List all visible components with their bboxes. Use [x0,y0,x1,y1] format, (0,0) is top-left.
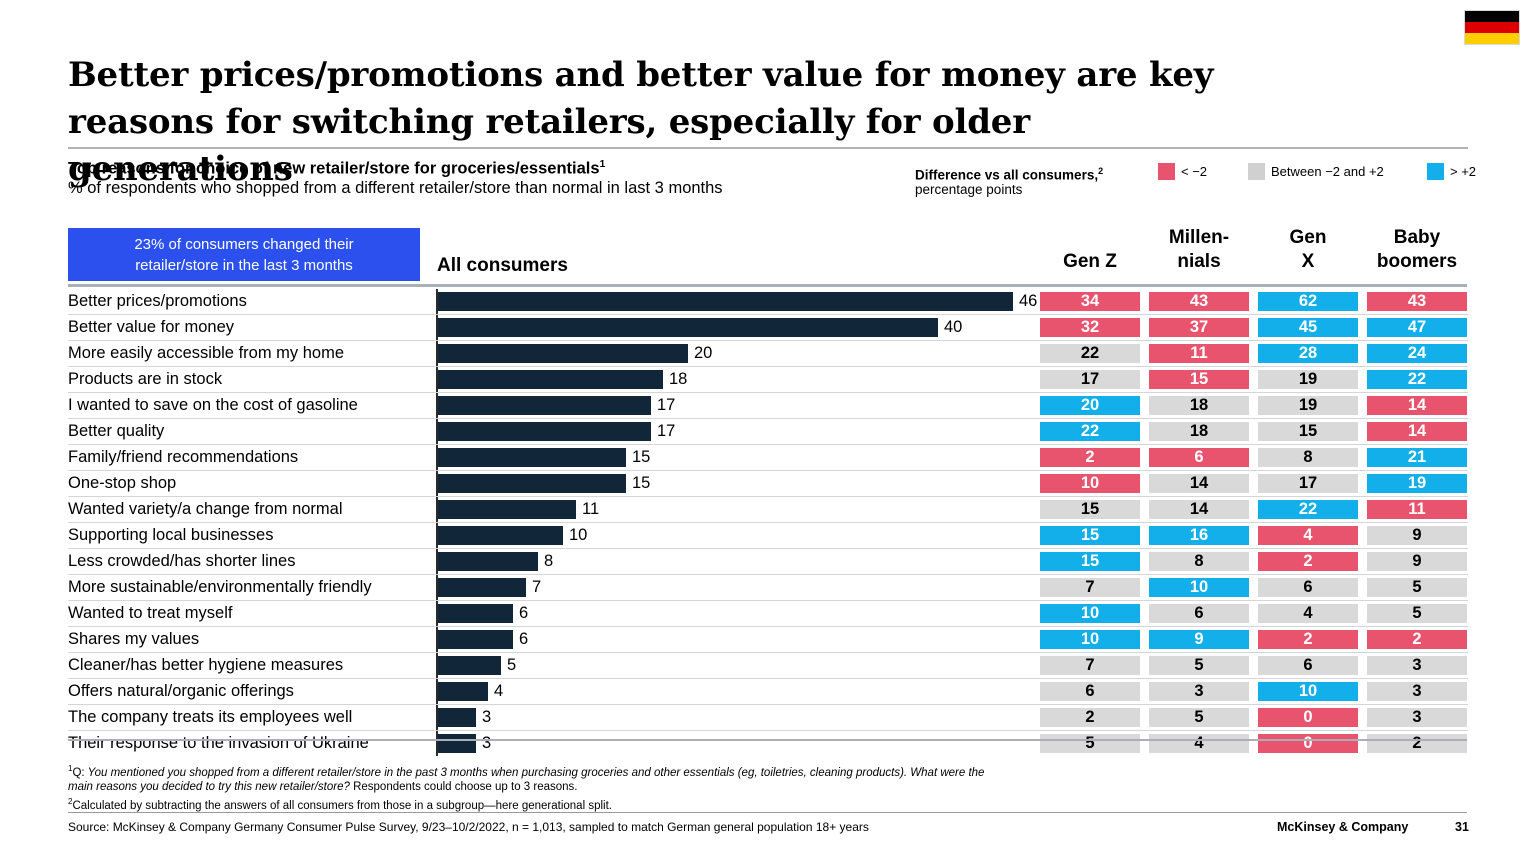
difference-cell: 2 [1367,734,1467,753]
bar-value-label: 10 [569,523,587,548]
difference-cell: 10 [1258,682,1358,701]
difference-cell: 14 [1149,474,1249,493]
difference-cell: 14 [1367,396,1467,415]
footnote-1: 1Q: You mentioned you shopped from a dif… [68,762,998,795]
bar-value-label: 40 [944,315,962,340]
callout-line-1: 23% of consumers changed their [134,236,353,253]
difference-cell: 28 [1258,344,1358,363]
table-row: More sustainable/environmentally friendl… [68,575,1468,601]
footnote-1-q: Q: [72,767,84,779]
difference-cell: 22 [1258,500,1358,519]
table-row: Better prices/promotions4634436243 [68,289,1468,315]
difference-cell: 15 [1040,552,1140,571]
bar [438,474,626,493]
difference-cell: 7 [1040,656,1140,675]
bar [438,656,501,675]
bar [438,630,513,649]
table-row: Cleaner/has better hygiene measures57563 [68,653,1468,679]
footnote-2-text: Calculated by subtracting the answers of… [72,800,612,812]
legend-swatch-positive-icon [1427,163,1444,180]
bar-value-label: 6 [519,601,528,626]
difference-cell: 22 [1367,370,1467,389]
difference-cell: 18 [1149,422,1249,441]
column-header-gen-z: Gen Z [1040,226,1140,274]
bar [438,682,488,701]
row-label: Family/friend recommendations [68,445,298,470]
difference-cell: 10 [1040,630,1140,649]
row-label: Offers natural/organic offerings [68,679,294,704]
row-label: Wanted to treat myself [68,601,232,626]
bar [438,344,688,363]
difference-cell: 37 [1149,318,1249,337]
legend-item-positive: > +2 [1427,163,1476,180]
column-header-millennials: Millen- nials [1149,226,1249,274]
column-header-baby-boomers-line-1: Baby [1367,226,1467,250]
column-header-millennials-line-1: Millen- [1149,226,1249,250]
chart-subtitle: Top reasons for choice of new retailer/s… [68,153,928,180]
difference-cell: 4 [1258,604,1358,623]
difference-cell: 43 [1367,292,1467,311]
bar [438,422,651,441]
bar [438,370,663,389]
bar-value-label: 15 [632,445,650,470]
difference-cell: 2 [1258,552,1358,571]
legend-item-positive-label: > +2 [1450,164,1476,179]
row-label: Supporting local businesses [68,523,273,548]
german-flag [1464,10,1520,45]
difference-cell: 19 [1258,370,1358,389]
difference-cell: 15 [1149,370,1249,389]
difference-cell: 3 [1367,708,1467,727]
difference-cell: 6 [1258,656,1358,675]
row-label: Cleaner/has better hygiene measures [68,653,343,678]
column-header-baby-boomers-line-2: boomers [1377,251,1457,272]
difference-cell: 18 [1149,396,1249,415]
table-row: I wanted to save on the cost of gasoline… [68,393,1468,419]
legend: Difference vs all consumers,2 percentage… [915,163,1475,203]
flag-stripe-gold [1465,33,1519,44]
bar [438,318,938,337]
difference-cell: 3 [1149,682,1249,701]
bar [438,526,563,545]
bar-value-label: 8 [544,549,553,574]
difference-cell: 47 [1367,318,1467,337]
difference-cell: 8 [1258,448,1358,467]
difference-cell: 45 [1258,318,1358,337]
column-header-gen-x: Gen X [1258,226,1358,274]
brand-label: McKinsey & Company [1277,820,1408,834]
row-label: I wanted to save on the cost of gasoline [68,393,358,418]
legend-swatch-neutral-icon [1248,163,1265,180]
row-label: Their response to the invasion of Ukrain… [68,731,369,756]
difference-cell: 10 [1149,578,1249,597]
difference-cell: 0 [1258,708,1358,727]
difference-cell: 16 [1149,526,1249,545]
difference-cell: 3 [1367,656,1467,675]
chart-subtitle-secondary: % of respondents who shopped from a diff… [68,177,948,199]
difference-cell: 7 [1040,578,1140,597]
title-divider [68,147,1468,149]
row-label: Products are in stock [68,367,222,392]
difference-cell: 9 [1149,630,1249,649]
legend-item-neutral-label: Between −2 and +2 [1271,164,1384,179]
bar-value-label: 20 [694,341,712,366]
bar [438,500,576,519]
difference-cell: 32 [1040,318,1140,337]
table-row: More easily accessible from my home20221… [68,341,1468,367]
footnote-2: 2Calculated by subtracting the answers o… [68,795,998,813]
difference-cell: 19 [1258,396,1358,415]
column-header-gen-x-line-1: Gen [1258,226,1358,250]
callout-box: 23% of consumers changed their retailer/… [68,228,420,281]
difference-cell: 21 [1367,448,1467,467]
difference-cell: 6 [1040,682,1140,701]
bar-value-label: 3 [482,705,491,730]
bar-value-label: 15 [632,471,650,496]
table-row: Offers natural/organic offerings463103 [68,679,1468,705]
row-label: Wanted variety/a change from normal [68,497,343,522]
difference-cell: 5 [1367,604,1467,623]
bar [438,708,476,727]
bar [438,448,626,467]
bar [438,604,513,623]
bar-value-label: 7 [532,575,541,600]
table-row: Better value for money4032374547 [68,315,1468,341]
difference-cell: 3 [1367,682,1467,701]
bar [438,396,651,415]
row-label: Less crowded/has shorter lines [68,549,295,574]
table-row: One-stop shop1510141719 [68,471,1468,497]
bar-value-label: 17 [657,419,675,444]
bar-value-label: 46 [1019,289,1037,314]
difference-cell: 5 [1149,708,1249,727]
difference-cell: 34 [1040,292,1140,311]
grid-bottom-divider [68,739,1467,741]
difference-cell: 17 [1040,370,1140,389]
footnote-1-tail: Respondents could choose up to 3 reasons… [350,781,578,793]
bar-value-label: 17 [657,393,675,418]
column-header-gen-x-line-2: X [1302,251,1315,272]
bar-value-label: 11 [582,497,599,522]
title-line-1: Better prices/promotions and better valu… [68,55,1213,95]
difference-cell: 14 [1149,500,1249,519]
difference-cell: 2 [1040,708,1140,727]
difference-cell: 15 [1040,500,1140,519]
difference-cell: 6 [1258,578,1358,597]
difference-cell: 62 [1258,292,1358,311]
difference-cell: 11 [1367,500,1467,519]
difference-cell: 5 [1367,578,1467,597]
difference-cell: 5 [1149,656,1249,675]
row-label: Shares my values [68,627,199,652]
row-label: The company treats its employees well [68,705,352,730]
callout-line-2: retailer/store in the last 3 months [135,257,353,274]
difference-cell: 6 [1149,604,1249,623]
bar-value-label: 5 [507,653,516,678]
legend-units: percentage points [915,181,1022,198]
table-row: Better quality1722181514 [68,419,1468,445]
difference-cell: 15 [1258,422,1358,441]
flag-stripe-red [1465,22,1519,33]
table-row: Supporting local businesses10151649 [68,523,1468,549]
table-row: Their response to the invasion of Ukrain… [68,731,1468,756]
row-label: Better quality [68,419,164,444]
difference-cell: 2 [1367,630,1467,649]
row-label: Better prices/promotions [68,289,247,314]
table-row: Products are in stock1817151922 [68,367,1468,393]
legend-swatch-negative-icon [1158,163,1175,180]
column-header-millennials-line-2: nials [1177,251,1220,272]
row-label: More easily accessible from my home [68,341,344,366]
bar-value-label: 4 [494,679,503,704]
difference-cell: 4 [1149,734,1249,753]
difference-cell: 20 [1040,396,1140,415]
bar-value-label: 3 [482,731,491,756]
difference-cell: 15 [1040,526,1140,545]
row-label: More sustainable/environmentally friendl… [68,575,372,600]
difference-cell: 6 [1149,448,1249,467]
page-number: 31 [1455,820,1469,834]
flag-stripe-black [1465,11,1519,22]
difference-cell: 14 [1367,422,1467,441]
legend-footnote-marker: 2 [1098,166,1103,176]
table-row: Wanted variety/a change from normal11151… [68,497,1468,523]
data-rows-container: Better prices/promotions4634436243Better… [68,289,1468,756]
legend-item-negative-label: < −2 [1181,164,1207,179]
difference-cell: 5 [1040,734,1140,753]
difference-cell: 24 [1367,344,1467,363]
column-header-gen-z-label: Gen Z [1063,251,1117,272]
source-divider [68,812,1467,813]
chart-subtitle-text: Top reasons for choice of new retailer/s… [68,160,600,178]
legend-item-neutral: Between −2 and +2 [1248,163,1384,180]
table-row: The company treats its employees well325… [68,705,1468,731]
difference-cell: 43 [1149,292,1249,311]
difference-cell: 4 [1258,526,1358,545]
difference-cell: 11 [1149,344,1249,363]
bar [438,552,538,571]
source-note: Source: McKinsey & Company Germany Consu… [68,820,869,834]
difference-cell: 10 [1040,474,1140,493]
row-label: One-stop shop [68,471,176,496]
difference-cell: 8 [1149,552,1249,571]
table-row: Shares my values610922 [68,627,1468,653]
difference-cell: 0 [1258,734,1358,753]
column-header-baby-boomers: Baby boomers [1367,226,1467,274]
bar-value-label: 6 [519,627,528,652]
difference-cell: 19 [1367,474,1467,493]
chart-subtitle-footnote-marker: 1 [600,158,606,170]
bar [438,578,526,597]
difference-cell: 9 [1367,526,1467,545]
difference-cell: 2 [1040,448,1140,467]
row-label: Better value for money [68,315,234,340]
difference-cell: 17 [1258,474,1358,493]
difference-cell: 9 [1367,552,1467,571]
footnotes: 1Q: You mentioned you shopped from a dif… [68,762,998,813]
difference-cell: 10 [1040,604,1140,623]
table-row: Wanted to treat myself610645 [68,601,1468,627]
legend-item-negative: < −2 [1158,163,1207,180]
column-header-all-consumers: All consumers [437,255,568,277]
difference-cell: 22 [1040,422,1140,441]
difference-cell: 22 [1040,344,1140,363]
bar-value-label: 18 [669,367,687,392]
bar [438,292,1013,311]
table-row: Family/friend recommendations1526821 [68,445,1468,471]
header-divider [68,284,1467,287]
table-row: Less crowded/has shorter lines815829 [68,549,1468,575]
bar [438,734,476,753]
difference-cell: 2 [1258,630,1358,649]
